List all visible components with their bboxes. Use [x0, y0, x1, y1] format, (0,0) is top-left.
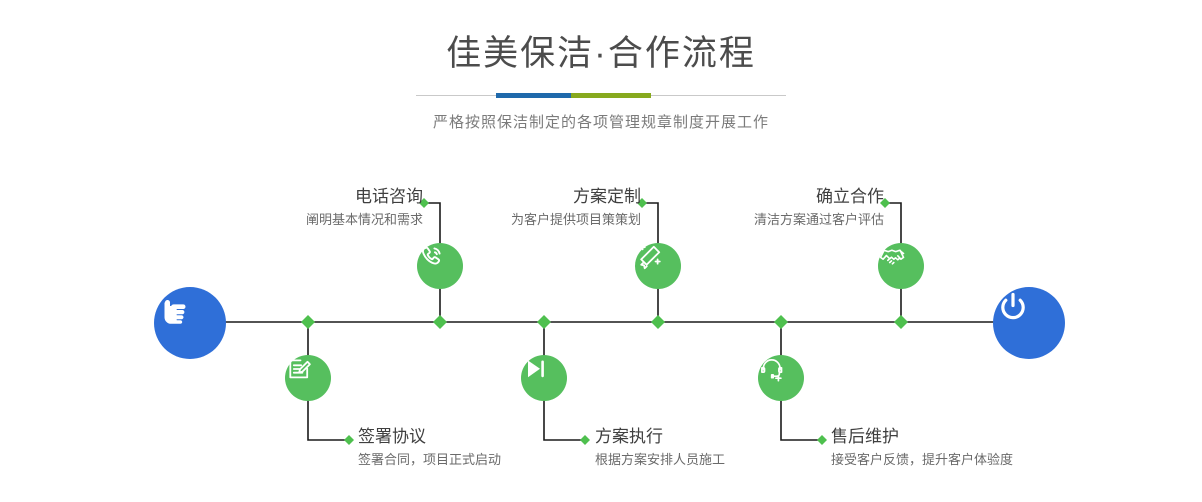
label-step-6-title: 售后维护: [831, 426, 1013, 448]
timeline-marker-6: [894, 315, 908, 329]
label-marker-step-6: [817, 435, 827, 445]
label-step-5: 确立合作 清洁方案通过客户评估: [754, 186, 884, 230]
label-marker-step-4: [580, 435, 590, 445]
label-step-5-title: 确立合作: [754, 186, 884, 208]
label-step-3-desc: 为客户提供项目策策划: [511, 210, 641, 230]
label-step-2-title: 签署协议: [358, 426, 501, 448]
node-icon-step-1[interactable]: [417, 243, 463, 289]
timeline-marker-4: [651, 315, 665, 329]
process-flow-diagram: 电话咨询 阐明基本情况和需求 方案定制 为客户提供项目策策划: [0, 0, 1202, 502]
node-icon-step-5[interactable]: [878, 243, 924, 289]
node-icon-step-4[interactable]: [521, 355, 567, 401]
timeline-marker-1: [301, 315, 315, 329]
label-step-6: 售后维护 接受客户反馈，提升客户体验度: [831, 426, 1013, 470]
label-step-3: 方案定制 为客户提供项目策策划: [511, 186, 641, 230]
node-icon-step-2[interactable]: [285, 355, 331, 401]
timeline-marker-2: [433, 315, 447, 329]
label-step-2: 签署协议 签署合同，项目正式启动: [358, 426, 501, 470]
timeline-marker-3: [537, 315, 551, 329]
label-step-1-desc: 阐明基本情况和需求: [306, 210, 423, 230]
label-step-4: 方案执行 根据方案安排人员施工: [595, 426, 725, 470]
label-step-5-desc: 清洁方案通过客户评估: [754, 210, 884, 230]
flow-end-node[interactable]: [993, 287, 1065, 359]
timeline-marker-5: [774, 315, 788, 329]
label-step-3-title: 方案定制: [511, 186, 641, 208]
cooperation-process-page: 佳美保洁·合作流程 严格按照保洁制定的各项管理规章制度开展工作: [0, 0, 1202, 502]
flow-start-node[interactable]: [154, 287, 226, 359]
label-step-4-title: 方案执行: [595, 426, 725, 448]
node-icon-step-6[interactable]: [758, 355, 804, 401]
label-step-4-desc: 根据方案安排人员施工: [595, 450, 725, 470]
label-step-6-desc: 接受客户反馈，提升客户体验度: [831, 450, 1013, 470]
label-step-1: 电话咨询 阐明基本情况和需求: [306, 186, 423, 230]
node-icon-step-3[interactable]: [635, 243, 681, 289]
label-step-1-title: 电话咨询: [306, 186, 423, 208]
label-step-2-desc: 签署合同，项目正式启动: [358, 450, 501, 470]
label-marker-step-2: [344, 435, 354, 445]
